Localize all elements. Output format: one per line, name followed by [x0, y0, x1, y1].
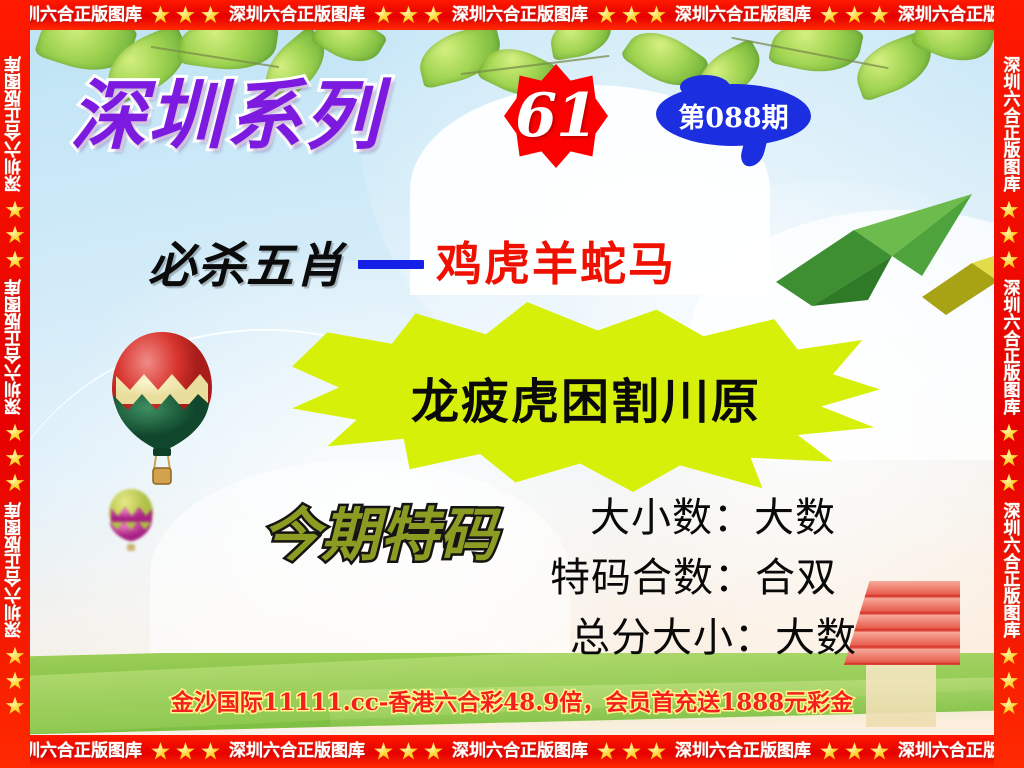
star-icon [820, 742, 839, 761]
footer-promo: 金沙国际11111.cc-香港六合彩48.9倍，会员首充送1888元彩金 [30, 683, 994, 717]
star-icon [424, 6, 443, 25]
special-code-heading: 今期特码 [262, 506, 498, 564]
kill-five-zodiac-row: 必杀五肖 鸡虎羊蛇马 [148, 228, 676, 294]
kill-five-label: 必杀五肖 [148, 226, 344, 296]
star-icon [1000, 201, 1019, 220]
star-icon [6, 226, 25, 245]
marquee-text: 深圳六合正版图库 [223, 7, 371, 24]
star-icon [374, 742, 393, 761]
kill-five-zodiacs: 鸡虎羊蛇马 [436, 228, 676, 294]
star-icon [622, 742, 641, 761]
star-icon [820, 6, 839, 25]
marquee-band-left: 深圳六合正版图库深圳六合正版图库深圳六合正版图库 [0, 0, 30, 768]
info-row: 特码合数：合双 [542, 548, 922, 608]
series-number-text: 61 [515, 86, 597, 146]
star-icon [870, 742, 889, 761]
star-icon [597, 742, 616, 761]
info-row-key: 特码合数： [550, 555, 755, 601]
hot-air-balloon-icon [108, 488, 154, 556]
star-icon [151, 6, 170, 25]
dash-separator-icon [358, 260, 424, 269]
star-icon [1000, 226, 1019, 245]
star-icon [1000, 647, 1019, 666]
marquee-band-right: 深圳六合正版图库深圳六合正版图库深圳六合正版图库 [994, 0, 1024, 768]
issue-label: 第088期 [678, 96, 788, 135]
marquee-text: 深圳六合正版图库 [669, 743, 817, 760]
star-icon [1000, 449, 1019, 468]
star-icon [424, 742, 443, 761]
star-icon [6, 424, 25, 443]
info-row-value: 合双 [755, 555, 837, 601]
marquee-text: 深圳六合正版图库 [7, 273, 24, 421]
marquee-text: 深圳六合正版图库 [7, 50, 24, 198]
star-icon [6, 474, 25, 493]
star-icon [870, 6, 889, 25]
marquee-text: 深圳六合正版图库 [1001, 50, 1018, 198]
star-icon [845, 742, 864, 761]
star-icon [151, 742, 170, 761]
poster-canvas: 深圳系列 61 第088期 必杀五肖 鸡虎羊蛇马 龙疲虎困割川原 今期特码 大小… [0, 0, 1024, 768]
star-icon [201, 742, 220, 761]
star-icon [6, 672, 25, 691]
artwork-area: 深圳系列 61 第088期 必杀五肖 鸡虎羊蛇马 龙疲虎困割川原 今期特码 大小… [30, 30, 994, 735]
star-icon [1000, 251, 1019, 270]
footer-promo-text: 金沙国际11111.cc-香港六合彩48.9倍，会员首充送1888元彩金 [171, 689, 854, 716]
marquee-band-bottom: 深圳六合正版图库深圳六合正版图库深圳六合正版图库深圳六合正版图库深圳六合正版图库 [0, 735, 1024, 768]
star-icon [1000, 424, 1019, 443]
hot-air-balloon-icon [108, 330, 216, 490]
info-row-key: 总分大小： [570, 615, 775, 661]
info-row-value: 大数 [754, 495, 836, 541]
marquee-band-top: 深圳六合正版图库深圳六合正版图库深圳六合正版图库深圳六合正版图库深圳六合正版图库 [0, 0, 1024, 30]
star-icon [399, 742, 418, 761]
marquee-text: 深圳六合正版图库 [7, 496, 24, 644]
star-icon [647, 742, 666, 761]
marquee-text: 深圳六合正版图库 [669, 7, 817, 24]
star-icon [1000, 474, 1019, 493]
info-row: 大小数：大数 [542, 488, 922, 548]
info-list: 大小数：大数 特码合数：合双 总分大小：大数 [542, 488, 922, 668]
header-title-row: 深圳系列 61 第088期 [70, 68, 790, 166]
info-row-value: 大数 [775, 615, 857, 661]
star-icon [6, 251, 25, 270]
marquee-text: 深圳六合正版图库 [1001, 496, 1018, 644]
paper-plane-icon [920, 235, 994, 325]
marquee-text: 深圳六合正版图库 [446, 7, 594, 24]
star-icon [6, 201, 25, 220]
page-title: 深圳系列 [70, 70, 382, 162]
star-icon [647, 6, 666, 25]
star-icon [6, 449, 25, 468]
marquee-text: 深圳六合正版图库 [446, 743, 594, 760]
star-icon [845, 6, 864, 25]
marquee-text: 深圳六合正版图库 [1001, 273, 1018, 421]
star-icon [622, 6, 641, 25]
star-icon [6, 647, 25, 666]
info-row: 总分大小：大数 [542, 608, 922, 668]
issue-badge: 第088期 [656, 84, 811, 146]
star-icon [176, 742, 195, 761]
star-icon [597, 6, 616, 25]
marquee-text: 深圳六合正版图库 [223, 743, 371, 760]
star-icon [374, 6, 393, 25]
star-icon [1000, 672, 1019, 691]
star-icon [6, 697, 25, 716]
series-number-badge: 61 [504, 64, 608, 168]
star-icon [1000, 697, 1019, 716]
star-icon [176, 6, 195, 25]
info-row-key: 大小数： [590, 495, 754, 541]
star-icon [399, 6, 418, 25]
star-icon [201, 6, 220, 25]
starburst-text: 龙疲虎困割川原 [411, 362, 761, 432]
